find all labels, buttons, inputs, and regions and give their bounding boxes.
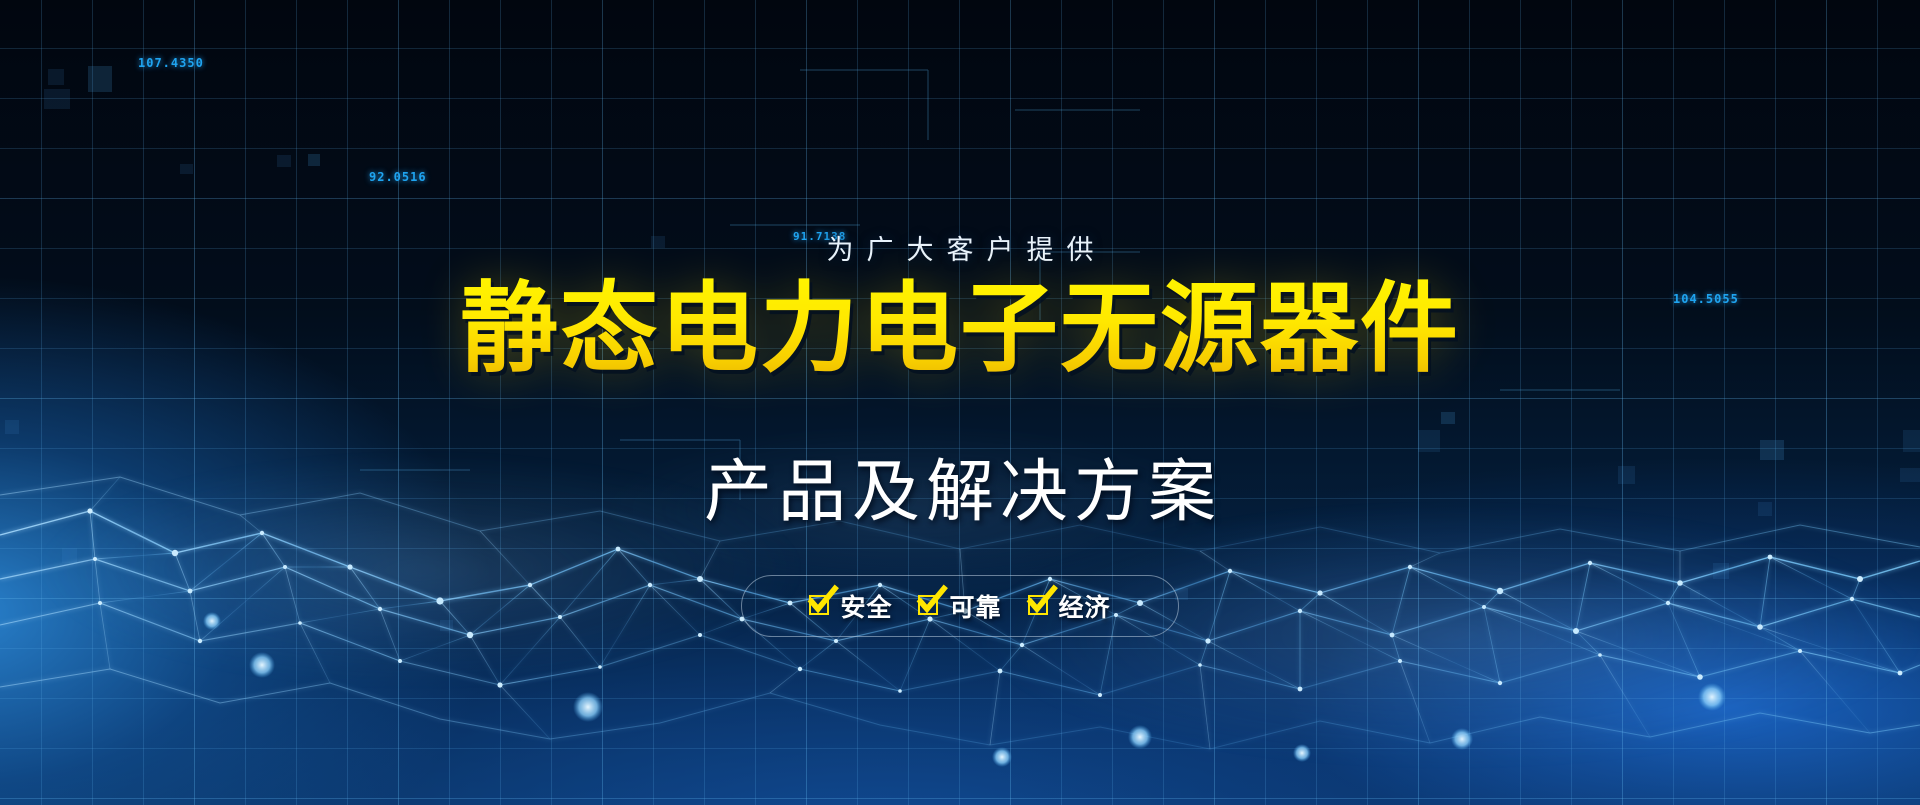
hero-subline: 产品及解决方案 (698, 454, 1222, 532)
feature-badge: 可靠 (918, 588, 1001, 624)
hero-eyebrow: 为广大客户提供 (814, 228, 1107, 267)
checkbox-checked-icon (918, 595, 940, 617)
checkbox-checked-icon (1028, 595, 1050, 617)
checkbox-checked-icon (809, 595, 831, 617)
feature-badge-group: 安全 可靠 经济 (741, 575, 1179, 637)
hero-content: 为广大客户提供 静态电力电子无源器件 产品及解决方案 安全 可靠 (0, 0, 1920, 805)
feature-badge: 安全 (809, 588, 892, 624)
feature-badge: 经济 (1028, 588, 1111, 624)
feature-label: 安全 (840, 588, 892, 624)
feature-label: 经济 (1059, 588, 1111, 624)
hero-banner: 107.4350 92.0516 91.7138 104.5055 为广大客户提… (0, 0, 1920, 805)
hero-headline: 静态电力电子无源器件 (460, 277, 1460, 383)
feature-label: 可靠 (949, 588, 1001, 624)
